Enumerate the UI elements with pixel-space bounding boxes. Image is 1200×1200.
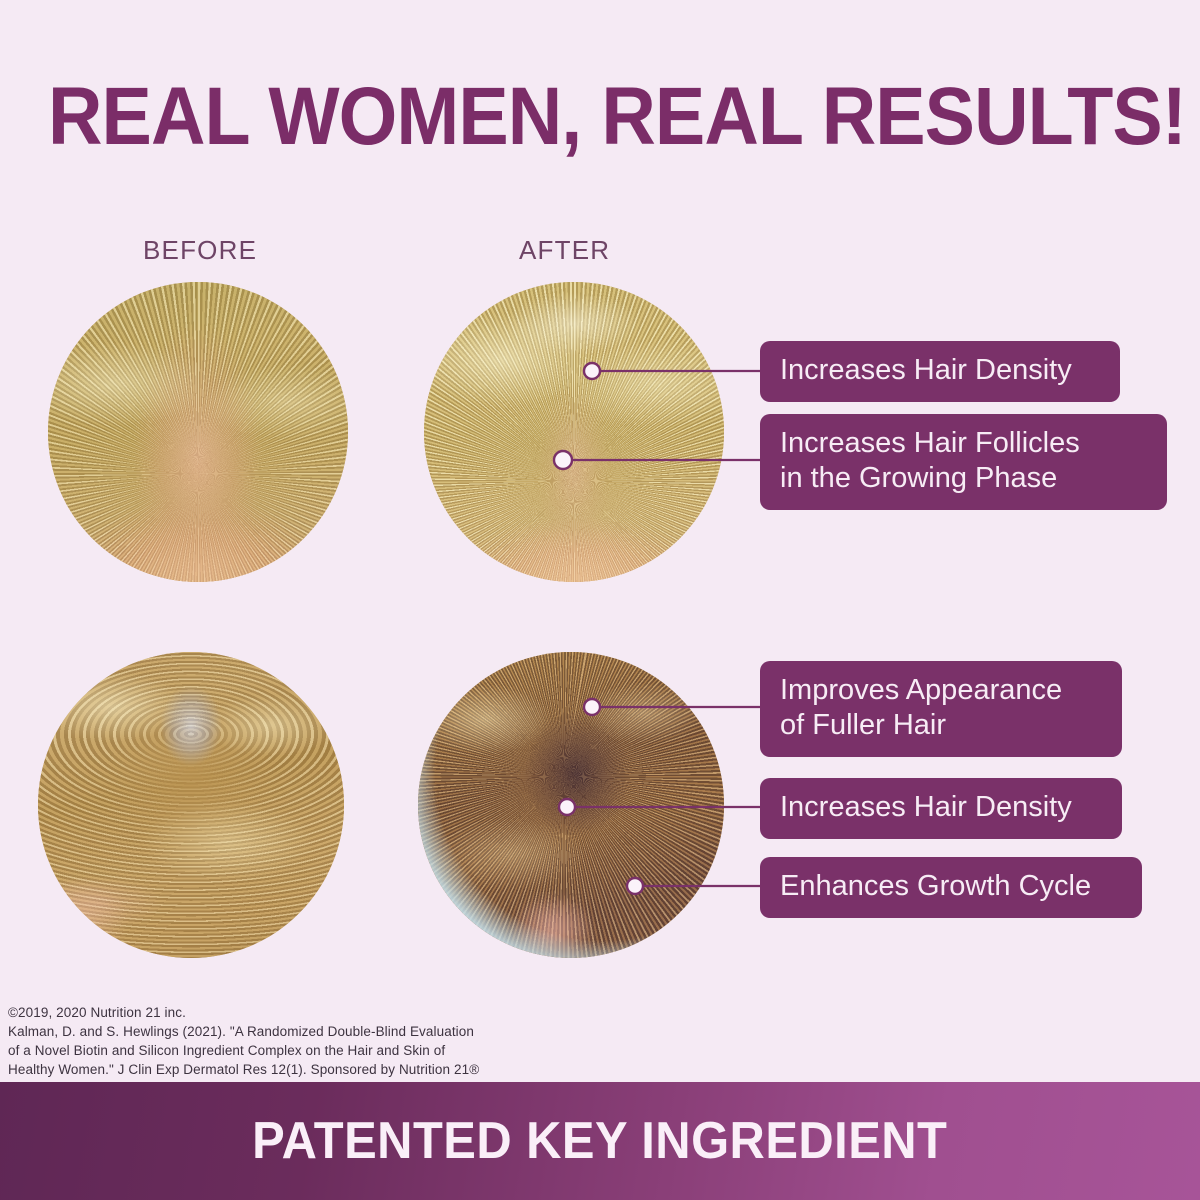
- photo-sheen: [48, 282, 348, 582]
- callout-badge-bottom-2[interactable]: Increases Hair Density: [760, 778, 1122, 839]
- photo-halo: [418, 652, 724, 958]
- label-after: AFTER: [519, 235, 610, 266]
- photo-sheen: [38, 652, 344, 958]
- bottom-banner: PATENTED KEY INGREDIENT: [0, 1082, 1200, 1200]
- photo-sheen: [424, 282, 724, 582]
- callout-badge-top-1[interactable]: Increases Hair Density: [760, 341, 1120, 402]
- photo-after-top: [424, 282, 724, 582]
- banner-text: PATENTED KEY INGREDIENT: [252, 1111, 947, 1171]
- footnote-citation: ©2019, 2020 Nutrition 21 inc. Kalman, D.…: [8, 1004, 479, 1080]
- callout-badge-bottom-1[interactable]: Improves Appearance of Fuller Hair: [760, 661, 1122, 757]
- photo-before-bottom: [38, 652, 344, 958]
- callout-badge-top-2[interactable]: Increases Hair Follicles in the Growing …: [760, 414, 1167, 510]
- callout-badge-bottom-3[interactable]: Enhances Growth Cycle: [760, 857, 1142, 918]
- page-title: REAL WOMEN, REAL RESULTS!: [48, 70, 1152, 164]
- infographic-stage: REAL WOMEN, REAL RESULTS! BEFORE AFTER: [0, 0, 1200, 1200]
- photo-before-top: [48, 282, 348, 582]
- photo-after-bottom: [418, 652, 724, 958]
- label-before: BEFORE: [143, 235, 257, 266]
